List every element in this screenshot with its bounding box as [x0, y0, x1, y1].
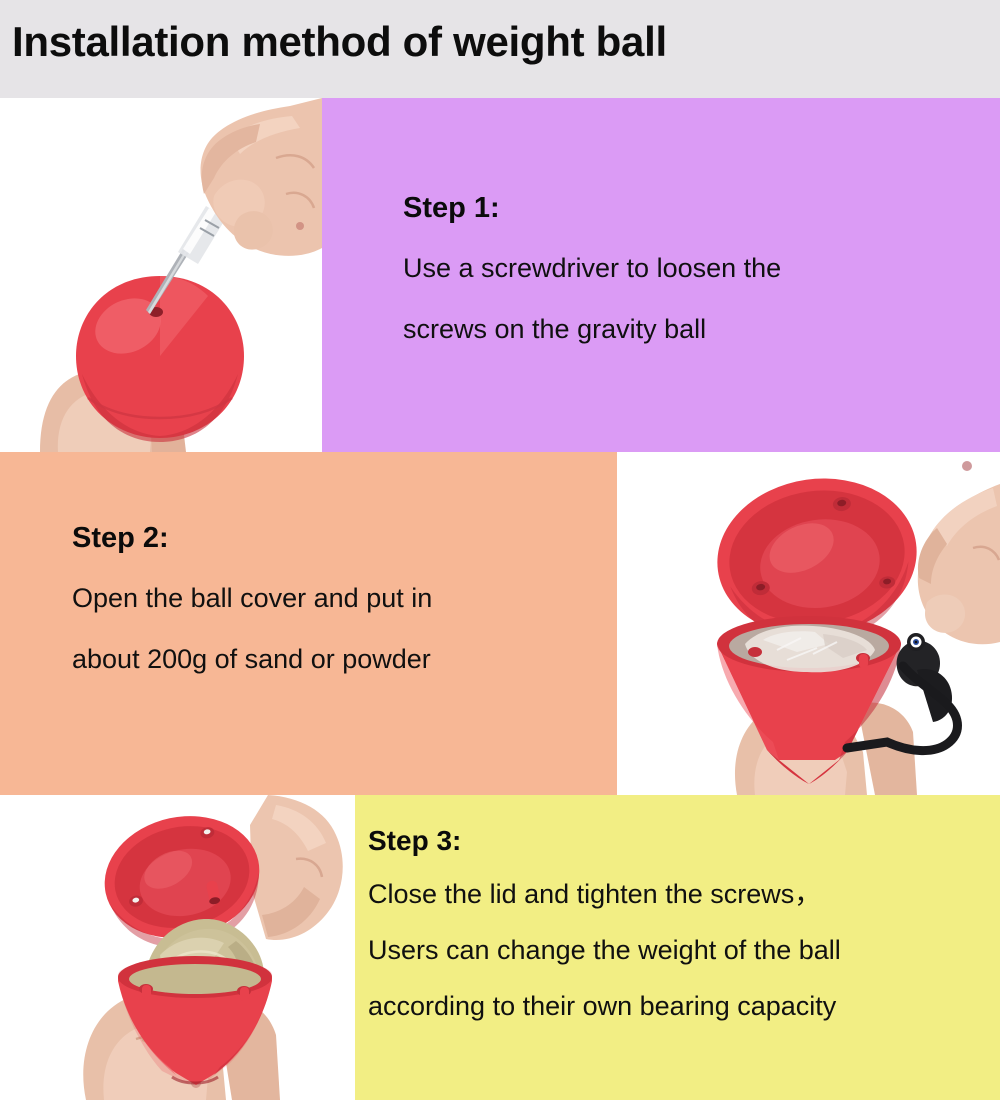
step-1-line-2: screws on the gravity ball — [403, 316, 1000, 343]
step-1-photo — [0, 98, 322, 452]
opened-ball-with-bag-illustration — [617, 452, 1000, 795]
step-2-line-1: Open the ball cover and put in — [72, 585, 617, 612]
step-3-heading: Step 3: — [368, 827, 1000, 855]
ball-filled-with-sand-illustration — [0, 795, 355, 1100]
step-3-line-3: according to their own bearing capacity — [368, 993, 1000, 1020]
step-2-text-panel: Step 2: Open the ball cover and put in a… — [0, 452, 617, 795]
infographic-page: Installation method of weight ball — [0, 0, 1000, 1100]
screwdriver-loosening-ball-illustration — [0, 98, 322, 452]
step-2-heading: Step 2: — [72, 524, 617, 553]
step-2-photo — [617, 452, 1000, 795]
step-3-text-panel: Step 3: Close the lid and tighten the sc… — [355, 795, 1000, 1100]
step-3-line-1: Close the lid and tighten the screws， — [368, 881, 1000, 908]
step-1-line-1: Use a screwdriver to loosen the — [403, 255, 1000, 282]
step-3-row: Step 3: Close the lid and tighten the sc… — [0, 795, 1000, 1100]
step-1-text-panel: Step 1: Use a screwdriver to loosen the … — [322, 98, 1000, 452]
page-title: Installation method of weight ball — [12, 18, 667, 66]
step-3-line-2: Users can change the weight of the ball — [368, 937, 1000, 964]
step-1-heading: Step 1: — [403, 194, 1000, 223]
step-2-row: Step 2: Open the ball cover and put in a… — [0, 452, 1000, 795]
step-2-line-2: about 200g of sand or powder — [72, 646, 617, 673]
step-1-row: Step 1: Use a screwdriver to loosen the … — [0, 98, 1000, 452]
step-3-photo — [0, 795, 355, 1100]
header-banner: Installation method of weight ball — [0, 0, 1000, 98]
